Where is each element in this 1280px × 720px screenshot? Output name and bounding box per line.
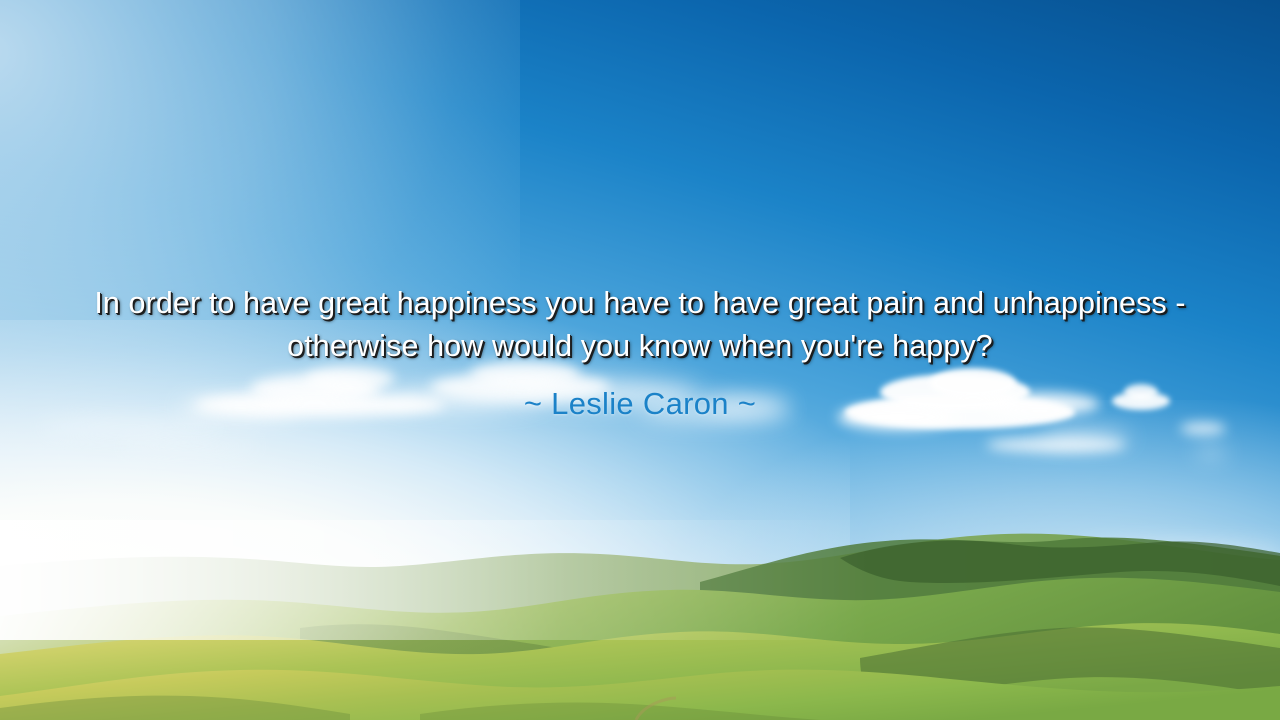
cloud-puff — [1040, 430, 1130, 444]
quote-text: In order to have great happiness you hav… — [60, 282, 1220, 368]
cloud-puff — [1196, 447, 1226, 457]
quote-block: In order to have great happiness you hav… — [60, 282, 1220, 424]
landscape-haze — [0, 520, 1280, 640]
quote-image-canvas: In order to have great happiness you hav… — [0, 0, 1280, 720]
quote-author: ~ Leslie Caron ~ — [60, 368, 1220, 424]
hills-landscape — [0, 520, 1280, 720]
cloud-wisp — [120, 440, 260, 452]
